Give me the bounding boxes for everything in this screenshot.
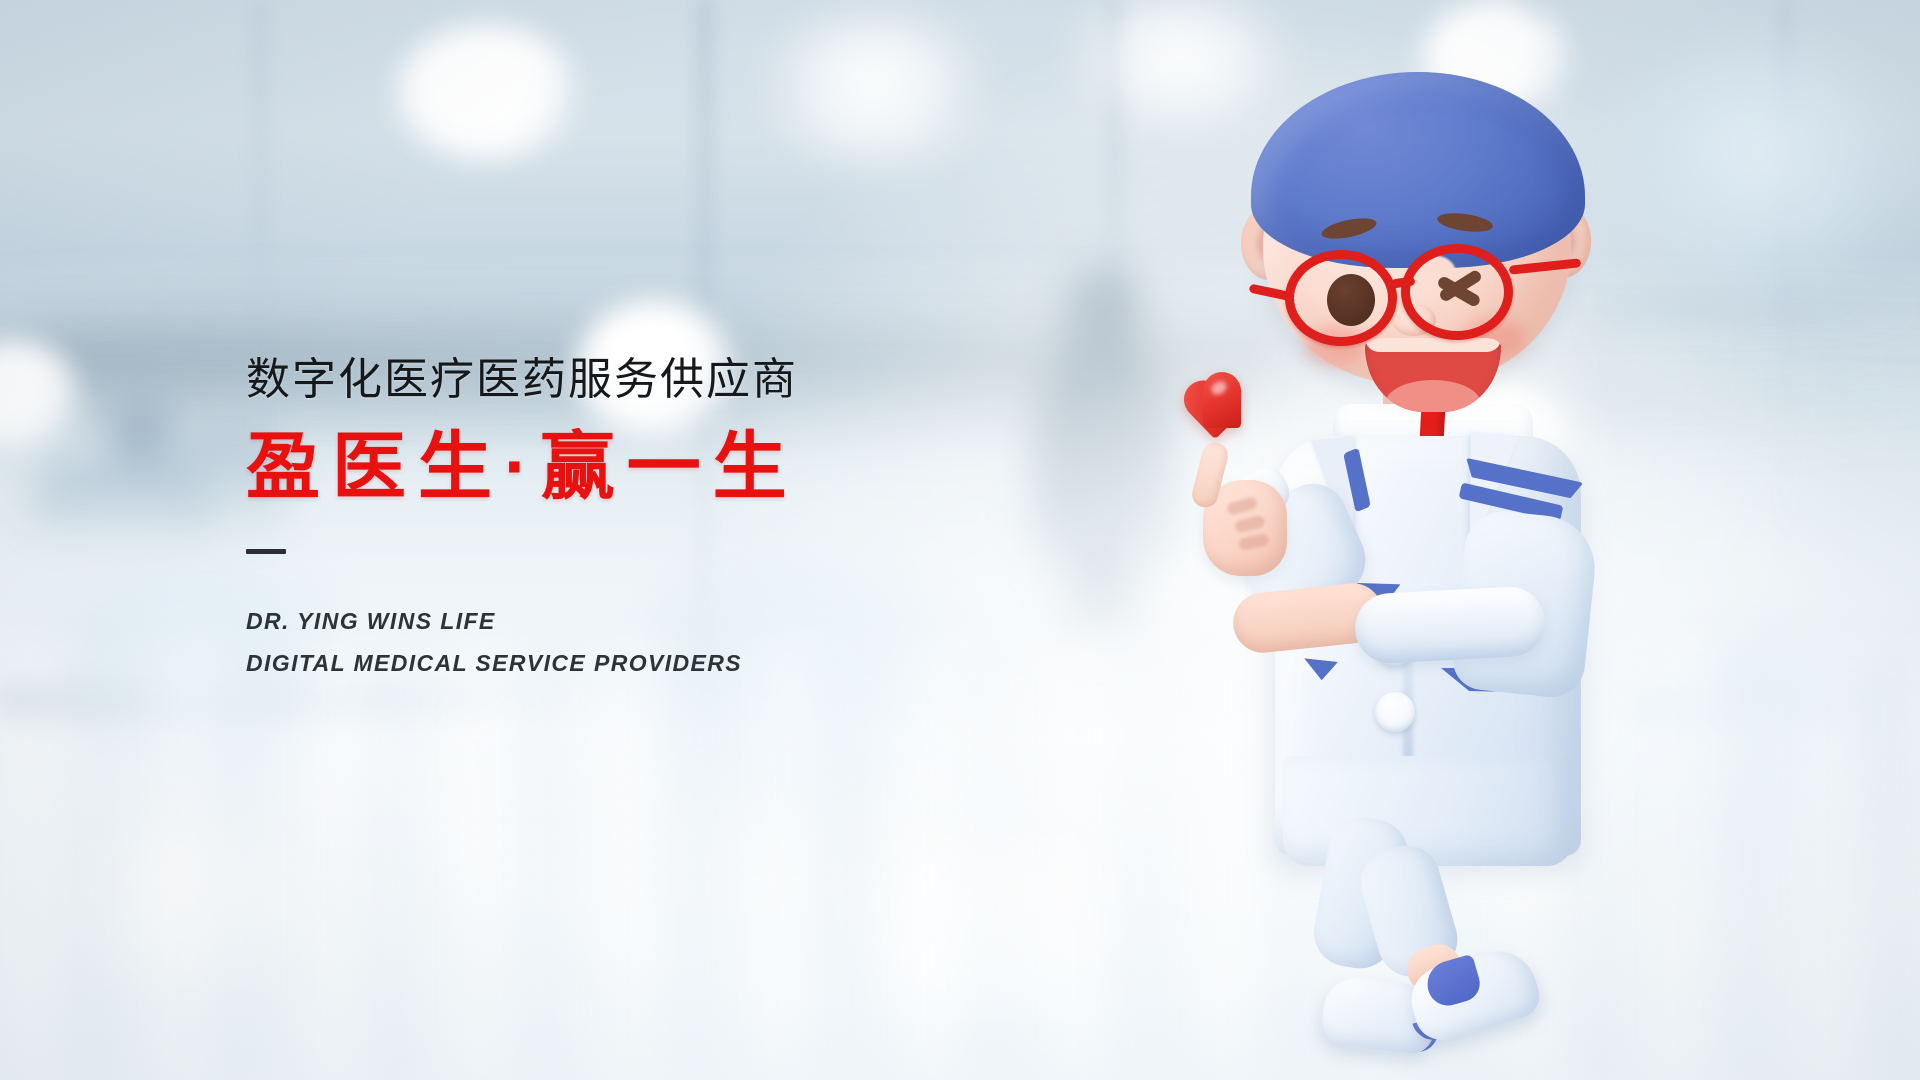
- sub-headline: 数字化医疗医药服务供应商: [246, 356, 1006, 404]
- finger-heart-hand: [1191, 442, 1303, 586]
- hero-copy-block: 数字化医疗医药服务供应商 盈医生·赢一生 DR. YING WINS LIFE …: [246, 356, 1006, 684]
- tongue: [1385, 380, 1481, 412]
- glasses-lens-right: [1401, 244, 1513, 340]
- mouth-open-smile: [1365, 338, 1501, 412]
- coat-button: [1375, 692, 1415, 732]
- cartoon-doctor-mascot: [1185, 38, 1655, 1048]
- hero-banner: 数字化医疗医药服务供应商 盈医生·赢一生 DR. YING WINS LIFE …: [0, 0, 1920, 1080]
- coat-forearm-sleeve: [1353, 585, 1546, 665]
- glasses-temple-right: [1509, 258, 1582, 274]
- main-headline: 盈医生·赢一生: [246, 426, 1006, 509]
- ceiling-light-bokeh: [760, 20, 990, 160]
- english-tagline-line-2: DIGITAL MEDICAL SERVICE PROVIDERS: [246, 642, 1006, 684]
- mascot-head: [1257, 86, 1577, 386]
- english-tagline-line-1: DR. YING WINS LIFE: [246, 600, 1006, 642]
- divider-rule: [246, 549, 286, 554]
- mascot-legs: [1315, 828, 1565, 1080]
- glasses-icon: [1251, 244, 1581, 342]
- ceiling-light-bokeh: [395, 25, 580, 160]
- glasses-lens-left: [1285, 250, 1397, 346]
